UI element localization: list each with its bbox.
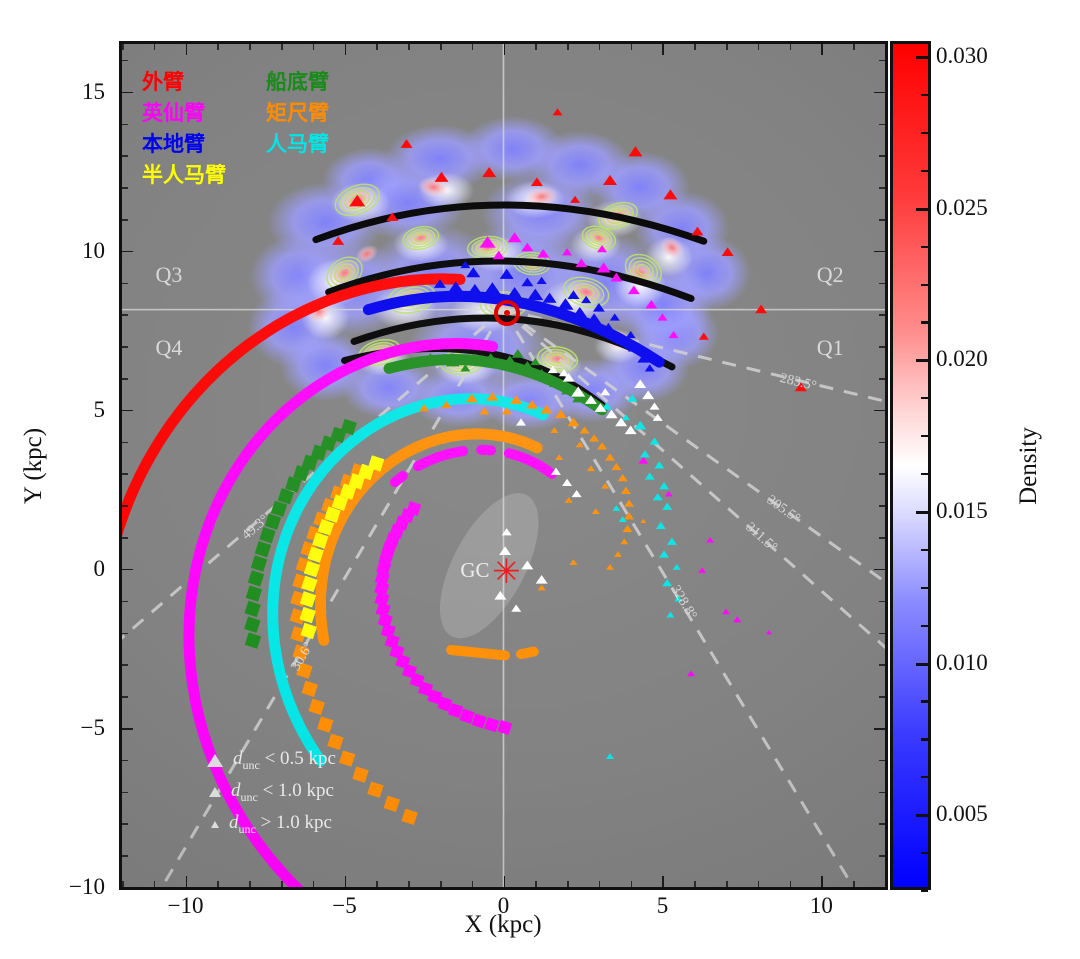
axis-tick [662, 44, 664, 55]
axis-tick [376, 44, 378, 50]
axis-tick [879, 378, 885, 380]
axis-tick [631, 44, 633, 50]
axis-tick [281, 881, 283, 887]
axis-tick [694, 44, 696, 50]
colorbar-tick-label: 0.030 [936, 43, 988, 69]
axis-tick [821, 44, 823, 55]
sun-position-marker [494, 300, 520, 326]
axis-tick [154, 881, 156, 887]
axis-tick [874, 251, 885, 253]
axis-tick [154, 44, 156, 50]
axis-tick [122, 792, 128, 794]
axis-tick [281, 44, 283, 50]
axis-tick [122, 283, 128, 285]
axis-tick [122, 378, 128, 380]
axis-tick [879, 855, 885, 857]
colorbar-tick [916, 814, 928, 817]
axis-tick [122, 696, 128, 698]
axis-tick [186, 876, 188, 887]
colorbar-tick [921, 246, 928, 248]
axis-tick [122, 760, 128, 762]
colorbar-tick [916, 56, 928, 59]
colorbar-tick [921, 473, 928, 475]
colorbar-tick [916, 663, 928, 666]
x-tick-label: 5 [657, 893, 669, 919]
axis-tick [726, 881, 728, 887]
axis-tick [122, 92, 133, 94]
quadrant-label-q3: Q3 [156, 262, 183, 288]
colorbar-tick-label: 0.005 [936, 801, 988, 827]
axis-tick [122, 251, 133, 253]
axis-tick [122, 728, 133, 730]
colorbar-tick-label: 0.020 [936, 346, 988, 372]
x-tick-label: −5 [332, 893, 356, 919]
axis-tick [217, 44, 219, 50]
axis-tick [879, 633, 885, 635]
axis-tick [879, 537, 885, 539]
y-tick-label: 10 [55, 238, 105, 264]
axis-tick [122, 537, 128, 539]
colorbar-tick [921, 132, 928, 134]
colorbar-tick-label: 0.010 [936, 650, 988, 676]
axis-tick [879, 219, 885, 221]
axis-tick [313, 881, 315, 887]
axis-tick [535, 881, 537, 887]
axis-tick [885, 44, 887, 50]
axis-tick [879, 760, 885, 762]
axis-tick [879, 696, 885, 698]
axis-tick [821, 876, 823, 887]
axis-tick [122, 473, 128, 475]
y-axis-title: Y (kpc) [20, 428, 48, 504]
colorbar-tick [916, 208, 928, 211]
axis-tick [376, 881, 378, 887]
y-tick-label: −5 [55, 715, 105, 741]
axis-tick [345, 44, 347, 55]
axis-tick [217, 881, 219, 887]
axis-tick [879, 346, 885, 348]
x-tick-label: −10 [168, 893, 204, 919]
axis-tick [694, 881, 696, 887]
colorbar-tick [921, 170, 928, 172]
galactic-center-star-icon: ✳ [492, 555, 521, 589]
axis-tick [122, 219, 128, 221]
axis-tick [122, 60, 128, 62]
axis-tick [631, 881, 633, 887]
axis-tick [885, 881, 887, 887]
size-legend-row: dunc > 1.0 kpc [207, 808, 336, 840]
axis-tick [122, 633, 128, 635]
axis-tick [122, 569, 133, 571]
axis-tick [249, 44, 251, 50]
size-legend-row: dunc < 0.5 kpc [207, 744, 336, 776]
axis-tick [790, 881, 792, 887]
colorbar-tick-label: 0.025 [936, 195, 988, 221]
axis-tick [879, 442, 885, 444]
axis-tick [567, 44, 569, 50]
axis-tick [662, 876, 664, 887]
triangle-marker-icon [211, 821, 219, 828]
axis-tick [874, 887, 885, 889]
axis-tick [408, 44, 410, 50]
colorbar-tick [921, 776, 928, 778]
axis-tick [122, 664, 128, 666]
axis-tick [122, 314, 128, 316]
axis-tick [853, 44, 855, 50]
axis-tick [122, 346, 128, 348]
axis-tick [122, 44, 124, 50]
colorbar-tick [921, 700, 928, 702]
quadrant-label-q1: Q1 [817, 335, 844, 361]
x-axis-title: X (kpc) [464, 911, 541, 939]
axis-tick [879, 124, 885, 126]
axis-tick [122, 124, 128, 126]
size-legend-label: dunc < 1.0 kpc [231, 780, 334, 805]
y-tick-label: 15 [55, 79, 105, 105]
axis-tick [122, 505, 128, 507]
triangle-marker-icon [207, 754, 223, 767]
axis-tick [249, 881, 251, 887]
size-legend-label: dunc < 0.5 kpc [233, 748, 336, 773]
axis-tick [874, 92, 885, 94]
colorbar-tick-label: 0.015 [936, 498, 988, 524]
axis-tick [122, 187, 128, 189]
colorbar-tick [921, 321, 928, 323]
axis-tick [122, 601, 128, 603]
axis-tick [879, 314, 885, 316]
axis-tick [122, 442, 128, 444]
axis-tick [879, 155, 885, 157]
axis-tick [535, 44, 537, 50]
axis-tick [313, 44, 315, 50]
axis-tick [758, 881, 760, 887]
colorbar-tick [921, 397, 928, 399]
quadrant-label-q2: Q2 [817, 262, 844, 288]
triangle-marker-icon [209, 787, 221, 797]
size-legend-label: dunc > 1.0 kpc [229, 812, 332, 837]
quadrant-label-q4: Q4 [156, 335, 183, 361]
density-colorbar[interactable] [890, 41, 931, 890]
galactic-center-label: GC [460, 558, 489, 583]
axis-tick [879, 664, 885, 666]
axis-tick [879, 823, 885, 825]
axis-tick [345, 876, 347, 887]
axis-tick [726, 44, 728, 50]
axis-tick [472, 881, 474, 887]
colorbar-tick [921, 587, 928, 589]
axis-tick [122, 855, 128, 857]
axis-tick [472, 44, 474, 50]
axis-tick [599, 44, 601, 50]
axis-tick [879, 60, 885, 62]
axis-tick [186, 44, 188, 55]
colorbar-tick [916, 359, 928, 362]
axis-tick [874, 728, 885, 730]
colorbar-tick [916, 511, 928, 514]
colorbar-tick [921, 94, 928, 96]
marker-size-legend: dunc < 0.5 kpcdunc < 1.0 kpcdunc > 1.0 k… [207, 744, 336, 840]
axis-tick [440, 44, 442, 50]
colorbar-title: Density [1015, 427, 1043, 505]
axis-tick [879, 473, 885, 475]
colorbar-tick [921, 284, 928, 286]
axis-tick [440, 881, 442, 887]
axis-tick [599, 881, 601, 887]
axis-tick [879, 283, 885, 285]
axis-tick [879, 792, 885, 794]
colorbar-tick [921, 625, 928, 627]
axis-tick [122, 887, 133, 889]
y-tick-label: 5 [55, 397, 105, 423]
axis-tick [758, 44, 760, 50]
axis-tick [122, 410, 133, 412]
x-tick-label: 10 [810, 893, 833, 919]
scatter-plot-panel[interactable]: ✳ GC Q1Q2Q3Q4 283.5°305.5°311.5°328.8°30… [119, 41, 888, 890]
colorbar-tick [921, 738, 928, 740]
axis-tick [504, 876, 506, 887]
axis-tick [790, 44, 792, 50]
axis-tick [879, 505, 885, 507]
y-tick-label: −10 [55, 874, 105, 900]
axis-tick [874, 410, 885, 412]
axis-tick [853, 881, 855, 887]
axis-tick [874, 569, 885, 571]
colorbar-tick [921, 549, 928, 551]
axis-tick [122, 155, 128, 157]
axis-tick [408, 881, 410, 887]
axis-tick [504, 44, 506, 55]
axis-tick [879, 601, 885, 603]
colorbar-tick [921, 852, 928, 854]
axis-tick [879, 187, 885, 189]
size-legend-row: dunc < 1.0 kpc [207, 776, 336, 808]
colorbar-tick [921, 890, 928, 892]
axis-tick [122, 823, 128, 825]
y-tick-label: 0 [55, 556, 105, 582]
axis-tick [567, 881, 569, 887]
colorbar-tick [921, 435, 928, 437]
